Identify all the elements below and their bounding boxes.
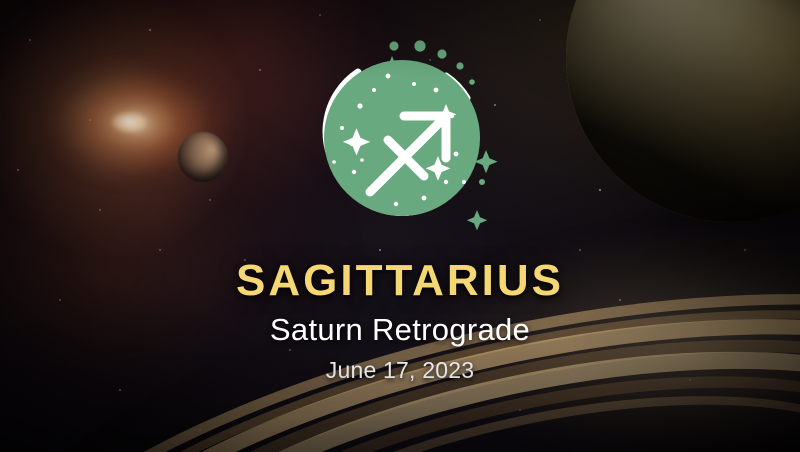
moon [178,132,228,182]
zodiac-sign-title: SAGITTARIUS [0,258,800,304]
horoscope-banner: SAGITTARIUS Saturn Retrograde June 17, 2… [0,0,800,452]
event-title: Saturn Retrograde [0,312,800,348]
sagittarius-zodiac-emblem [296,32,508,244]
event-date: June 17, 2023 [0,357,800,384]
sun-flare-core [112,112,146,132]
caption-block: SAGITTARIUS Saturn Retrograde June 17, 2… [0,258,800,384]
